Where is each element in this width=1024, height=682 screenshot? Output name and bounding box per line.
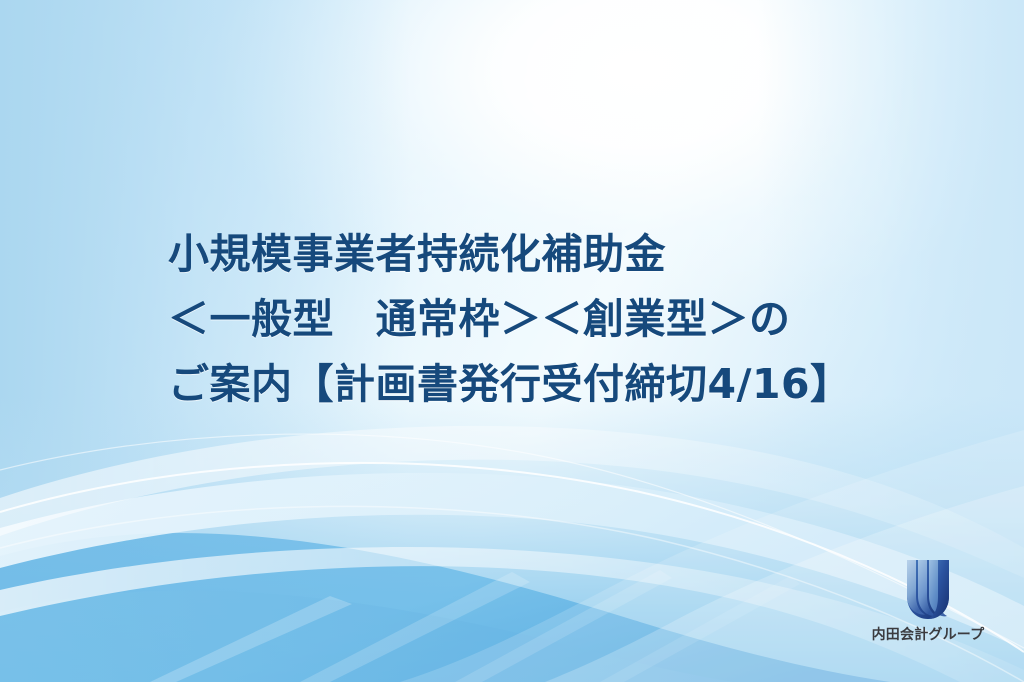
slide-canvas: 小規模事業者持続化補助金 ＜一般型 通常枠＞＜創業型＞の ご案内【計画書発行受付… xyxy=(0,0,1024,682)
uchida-u-shield-icon xyxy=(897,556,959,622)
company-name-label: 内田会計グループ xyxy=(858,624,998,644)
headline-line-2: ＜一般型 通常枠＞＜創業型＞の xyxy=(168,287,868,352)
headline-line-3: ご案内【計画書発行受付締切4/16】 xyxy=(168,352,868,417)
headline-line-1: 小規模事業者持続化補助金 xyxy=(168,222,868,287)
company-logo: 内田会計グループ xyxy=(858,556,998,644)
headline-block: 小規模事業者持続化補助金 ＜一般型 通常枠＞＜創業型＞の ご案内【計画書発行受付… xyxy=(168,222,868,417)
